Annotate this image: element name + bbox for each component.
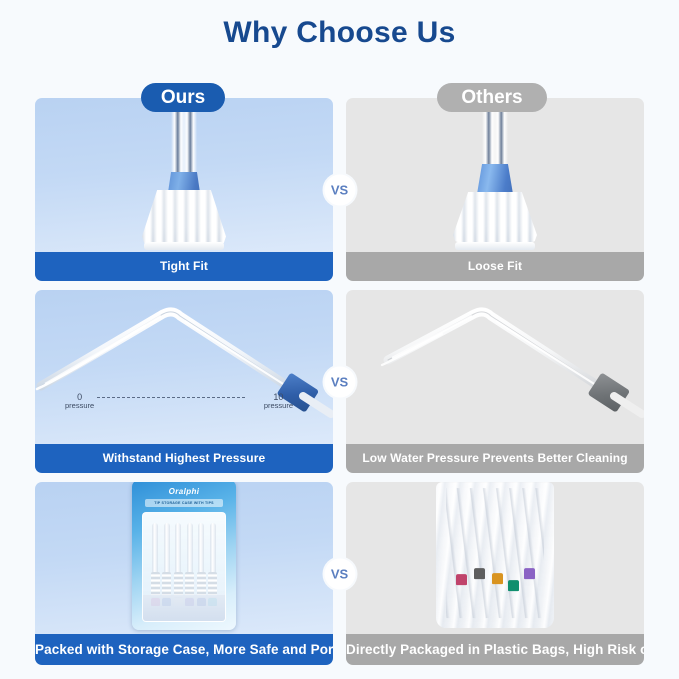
comparison-grid: Tight Fit VS Loose Fit — [35, 98, 644, 674]
caption-ours-packaging: Packed with Storage Case, More Safe and … — [35, 634, 333, 665]
card-media-ours-fit — [35, 98, 333, 252]
bag-tip — [524, 568, 535, 579]
card-media-others-fit — [346, 98, 644, 252]
card-ours-fit: Tight Fit — [35, 98, 333, 281]
vs-badge-fit: VS — [324, 174, 355, 205]
caption-others-packaging: Directly Packaged in Plastic Bags, High … — [346, 634, 644, 665]
nozzle-base-lip — [455, 242, 535, 250]
card-media-ours-pressure: 0 pressure 10 pressure — [35, 290, 333, 444]
caption-others-pressure: Low Water Pressure Prevents Better Clean… — [346, 444, 644, 473]
caption-ours-pressure: Withstand Highest Pressure — [35, 444, 333, 473]
water-flosser-nozzle-loose-icon — [435, 102, 555, 252]
card-ours-pressure: 0 pressure 10 pressure Withstand Highest… — [35, 290, 333, 473]
column-header-ours: Ours — [141, 83, 225, 112]
card-media-others-pressure — [346, 290, 644, 444]
bag-tip — [492, 573, 503, 584]
nozzle-white-base — [142, 190, 226, 244]
bent-nozzle-with-water-jet-icon — [35, 290, 333, 444]
package-subtitle: TIP STORAGE CASE WITH TIPS — [145, 499, 223, 507]
retail-blister-package-icon: Oralphi TIP STORAGE CASE WITH TIPS — [132, 482, 236, 630]
card-media-ours-packaging: Oralphi TIP STORAGE CASE WITH TIPS — [35, 482, 333, 634]
bent-nozzle-gray-svg — [346, 290, 644, 444]
nozzle-tubes — [171, 102, 197, 182]
caption-others-fit: Loose Fit — [346, 252, 644, 281]
package-window-footer — [143, 595, 225, 621]
bag-tip — [474, 568, 485, 579]
bag-tips-group — [450, 564, 544, 590]
nozzle-white-base — [453, 192, 537, 242]
card-others-packaging: Directly Packaged in Plastic Bags, High … — [346, 482, 644, 665]
water-flosser-nozzle-tight-icon — [124, 102, 244, 252]
card-others-fit: Loose Fit — [346, 98, 644, 281]
loose-tips-in-plastic-bag-icon — [436, 482, 554, 628]
bent-nozzle-weak-water-jet-icon — [346, 290, 644, 444]
column-header-others: Others — [437, 83, 547, 112]
pressure-label-min: 0 pressure — [65, 392, 94, 411]
bent-nozzle-svg — [35, 290, 333, 444]
comparison-row-packaging: Oralphi TIP STORAGE CASE WITH TIPS — [35, 482, 644, 665]
package-brand: Oralphi — [169, 487, 200, 496]
bag-tip — [508, 580, 519, 591]
page-title: Why Choose Us — [0, 0, 679, 48]
comparison-row-pressure: 0 pressure 10 pressure Withstand Highest… — [35, 290, 644, 473]
pressure-scale: 0 pressure 10 pressure — [57, 392, 323, 418]
bag-nozzle-rods — [446, 488, 544, 618]
card-ours-packaging: Oralphi TIP STORAGE CASE WITH TIPS — [35, 482, 333, 665]
pressure-dashed-line — [97, 397, 245, 398]
card-media-others-packaging — [346, 482, 644, 634]
pressure-label-max: 10 pressure — [264, 392, 293, 411]
vs-badge-pressure: VS — [324, 366, 355, 397]
pressure-unit-min: pressure — [65, 401, 94, 410]
caption-ours-fit: Tight Fit — [35, 252, 333, 281]
bag-tip — [456, 574, 467, 585]
vs-badge-packaging: VS — [324, 558, 355, 589]
comparison-row-fit: Tight Fit VS Loose Fit — [35, 98, 644, 281]
nozzle-base-lip — [144, 242, 224, 250]
package-window — [142, 512, 226, 622]
pressure-unit-max: pressure — [264, 401, 293, 410]
card-others-pressure: Low Water Pressure Prevents Better Clean… — [346, 290, 644, 473]
nozzle-blue-collar — [477, 164, 513, 194]
